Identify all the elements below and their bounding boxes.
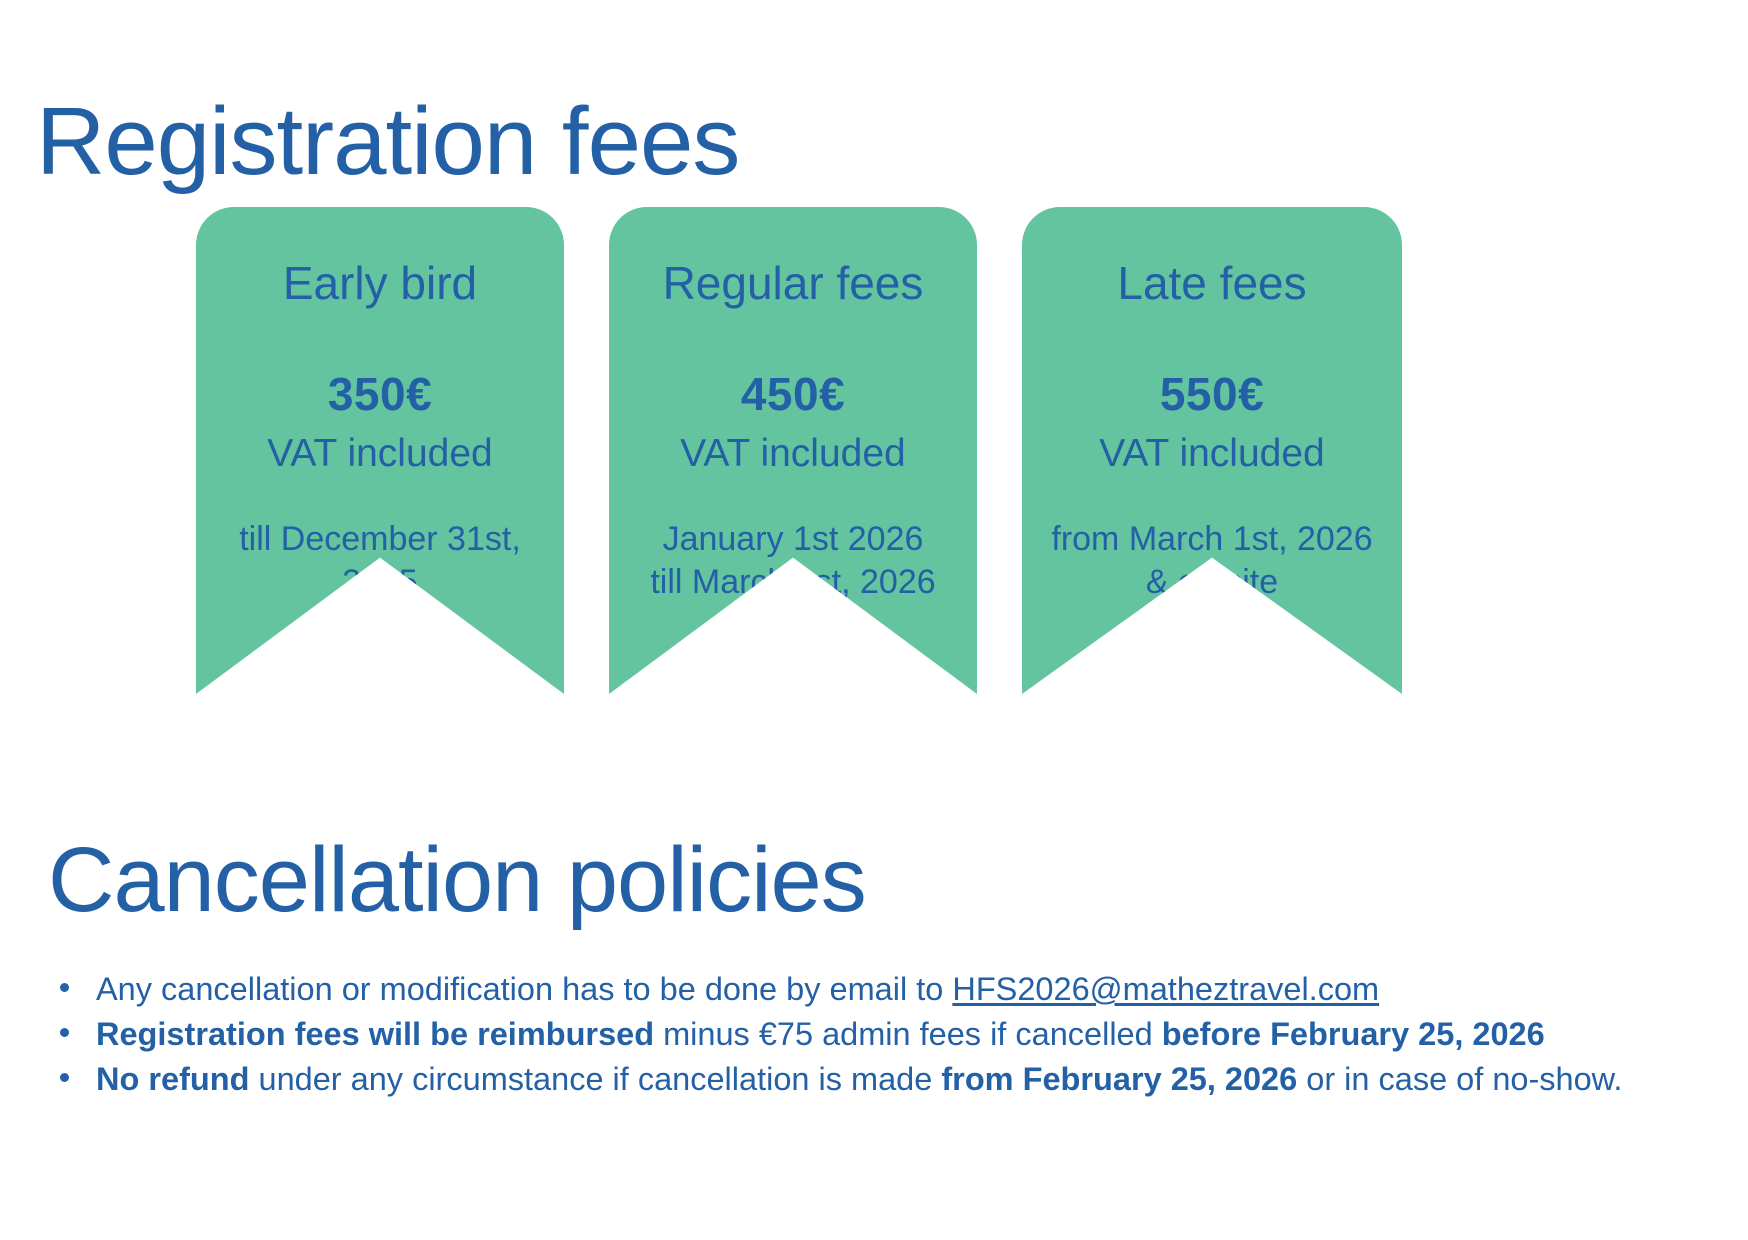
policy-bold-2: from February 25, 2026: [941, 1061, 1297, 1097]
fee-card-title: Regular fees: [663, 259, 924, 307]
policy-bold-1: Registration fees will be reimbursed: [96, 1016, 654, 1052]
fee-card-title: Early bird: [283, 259, 477, 307]
fee-card-dates: January 1st 2026 till March 1st, 2026: [650, 518, 935, 604]
fee-card-dates: from March 1st, 2026 & on site: [1051, 518, 1372, 604]
policy-bold-1: No refund: [96, 1061, 249, 1097]
fee-card-price: 350€: [328, 371, 432, 417]
policy-mid: under any circumstance if cancellation i…: [249, 1061, 941, 1097]
fee-card-late-fees: Late fees 550€ VAT included from March 1…: [1022, 207, 1402, 694]
fee-card-dates-line1: from March 1st, 2026: [1051, 518, 1372, 561]
policy-prefix: Any cancellation or modification has to …: [96, 971, 952, 1007]
fee-card-vat-note: VAT included: [267, 433, 492, 476]
section-title-cancellation-policies: Cancellation policies: [48, 828, 866, 934]
list-item: No refund under any circumstance if canc…: [52, 1058, 1712, 1101]
list-item: Registration fees will be reimbursed min…: [52, 1013, 1712, 1056]
poster-page: Registration fees Early bird 350€ VAT in…: [0, 0, 1748, 1240]
fee-card-dates-line2: till March 1st, 2026: [650, 561, 935, 604]
policy-bold-2: before February 25, 2026: [1162, 1016, 1545, 1052]
policy-suffix: or in case of no-show.: [1297, 1061, 1622, 1097]
policy-text-3: No refund under any circumstance if canc…: [96, 1061, 1622, 1097]
fee-card-dates-line1: January 1st 2026: [650, 518, 935, 561]
bullet-icon: [60, 1073, 69, 1082]
fee-card-price: 450€: [741, 371, 845, 417]
bullet-icon: [60, 983, 69, 992]
fee-card-vat-note: VAT included: [1099, 433, 1324, 476]
cancellation-policy-list: Any cancellation or modification has to …: [52, 968, 1712, 1103]
page-title: Registration fees: [36, 87, 739, 197]
fee-card-regular-fees: Regular fees 450€ VAT included January 1…: [609, 207, 977, 694]
email-link[interactable]: HFS2026@matheztravel.com: [952, 971, 1379, 1007]
fee-card-dates: till December 31st, 2025: [210, 518, 550, 604]
fee-card-price: 550€: [1160, 371, 1264, 417]
fee-card-vat-note: VAT included: [680, 433, 905, 476]
policy-text-1: Any cancellation or modification has to …: [96, 971, 1379, 1007]
fee-card-dates-line2: & on site: [1051, 561, 1372, 604]
list-item: Any cancellation or modification has to …: [52, 968, 1712, 1011]
fee-card-title: Late fees: [1117, 259, 1306, 307]
fee-cards-row: Early bird 350€ VAT included till Decemb…: [196, 207, 1576, 697]
fee-card-early-bird: Early bird 350€ VAT included till Decemb…: [196, 207, 564, 694]
policy-mid: minus €75 admin fees if cancelled: [654, 1016, 1162, 1052]
bullet-icon: [60, 1028, 69, 1037]
policy-text-2: Registration fees will be reimbursed min…: [96, 1016, 1545, 1052]
